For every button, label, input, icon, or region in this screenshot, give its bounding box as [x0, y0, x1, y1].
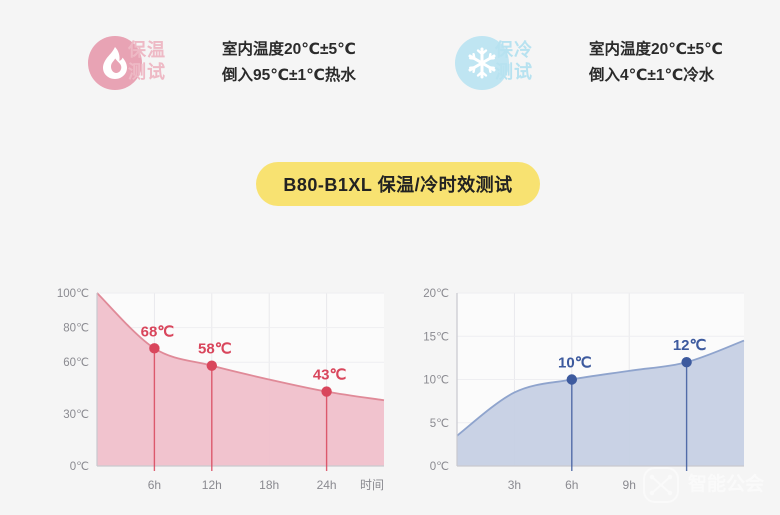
heat-condition-text: 室内温度20℃±5℃ 倒入95℃±1℃热水	[222, 37, 356, 89]
svg-text:30℃: 30℃	[63, 409, 89, 421]
svg-text:12℃: 12℃	[673, 337, 707, 354]
svg-text:5℃: 5℃	[430, 418, 449, 430]
svg-text:12h: 12h	[202, 478, 222, 492]
svg-text:18h: 18h	[259, 478, 279, 492]
heat-badge-label: 保温 测试	[128, 39, 166, 83]
page-title: B80-B1XL 保温/冷时效测试	[283, 171, 512, 197]
svg-text:58℃: 58℃	[198, 341, 232, 358]
cold-condition-line1: 室内温度20℃±5℃	[589, 37, 723, 63]
svg-text:时间: 时间	[360, 478, 384, 492]
heat-condition-line2: 倒入95℃±1℃热水	[222, 63, 356, 89]
svg-text:10℃: 10℃	[558, 355, 592, 372]
flame-icon	[100, 46, 130, 80]
condition-heat-retention: 保温 测试 室内温度20℃±5℃ 倒入95℃±1℃热水	[88, 33, 356, 93]
snowflake-icon	[465, 46, 499, 80]
svg-text:9h: 9h	[623, 478, 636, 492]
svg-text:0℃: 0℃	[430, 461, 449, 473]
heat-retention-chart: 68℃58℃43℃0℃30℃60℃80℃100℃6h12h18h24h时间	[40, 280, 390, 495]
heat-badge: 保温 测试	[88, 33, 216, 93]
cold-condition-text: 室内温度20℃±5℃ 倒入4℃±1℃冷水	[589, 37, 723, 89]
cold-condition-line2: 倒入4℃±1℃冷水	[589, 63, 723, 89]
svg-text:100℃: 100℃	[57, 288, 89, 300]
svg-text:6h: 6h	[565, 478, 578, 492]
svg-text:10℃: 10℃	[423, 375, 449, 387]
svg-text:68℃: 68℃	[141, 323, 175, 340]
svg-text:3h: 3h	[508, 478, 521, 492]
svg-text:80℃: 80℃	[63, 323, 89, 335]
condition-cold-retention: 保冷 测试 室内温度20℃±5℃ 倒入4℃±1℃冷水	[455, 33, 723, 93]
svg-text:0℃: 0℃	[70, 461, 89, 473]
svg-text:6h: 6h	[148, 478, 161, 492]
page-title-pill: B80-B1XL 保温/冷时效测试	[256, 162, 540, 206]
poster-root: 保温 测试 室内温度20℃±5℃ 倒入95℃±1℃热水	[0, 0, 780, 514]
heat-condition-line1: 室内温度20℃±5℃	[222, 37, 356, 63]
svg-text:60℃: 60℃	[63, 357, 89, 369]
svg-text:43℃: 43℃	[313, 367, 347, 384]
svg-text:15℃: 15℃	[423, 331, 449, 343]
svg-text:24h: 24h	[317, 478, 337, 492]
svg-text:20℃: 20℃	[423, 288, 449, 300]
cold-badge: 保冷 测试	[455, 33, 583, 93]
cold-badge-label: 保冷 测试	[495, 39, 533, 83]
cold-retention-chart: 10℃12℃0℃5℃10℃15℃20℃3h6h9h	[400, 280, 750, 495]
